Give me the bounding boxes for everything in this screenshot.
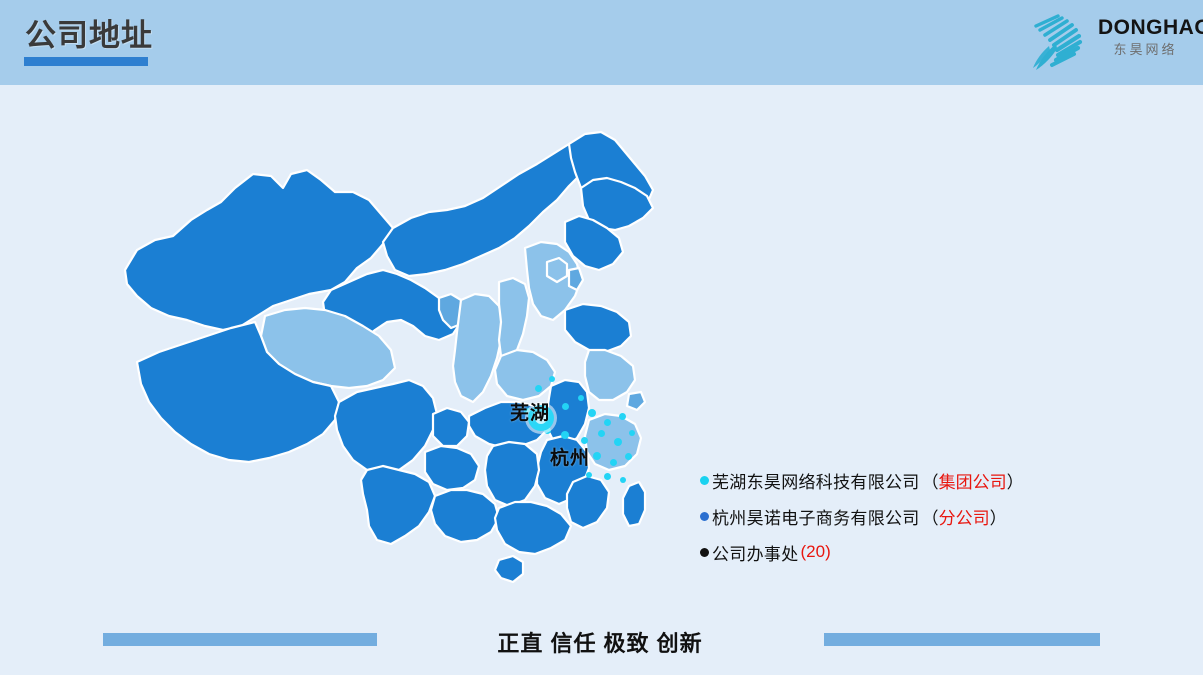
legend-tag-branch-company: （分公司）: [922, 504, 1007, 529]
office-dot[interactable]: [562, 403, 569, 410]
office-dot[interactable]: [598, 430, 605, 437]
office-dot[interactable]: [625, 453, 632, 460]
province-henan: [495, 350, 555, 400]
logo-wordmark: DONGHAO 东昊网络: [1098, 16, 1193, 59]
page-title: 公司地址: [25, 16, 153, 56]
company-logo: DONGHAO 东昊网络: [1026, 8, 1191, 76]
office-dot[interactable]: [604, 419, 611, 426]
legend-item-group-company: 芜湖东昊网络科技有限公司 （集团公司）: [700, 462, 1170, 498]
office-dot[interactable]: [610, 459, 617, 466]
legend-tag-red-group: 集团公司: [939, 473, 1007, 492]
legend-item-offices: 公司办事处 (20): [700, 534, 1170, 570]
province-shanxi: [499, 278, 529, 362]
office-dot[interactable]: [593, 452, 601, 460]
legend-label-offices: 公司办事处: [712, 540, 799, 565]
office-dot[interactable]: [604, 473, 611, 480]
province-sichuan: [335, 380, 437, 474]
province-shandong: [565, 304, 631, 352]
province-yunnan: [361, 466, 435, 544]
legend-office-count: (20): [801, 542, 831, 561]
office-dot[interactable]: [614, 438, 622, 446]
legend-tag-group-company: （集团公司）: [922, 468, 1024, 493]
province-jiangsu: [585, 350, 635, 400]
legend-tag-red-branch: 分公司: [939, 509, 990, 528]
china-map-svg: [95, 130, 695, 610]
province-hunan: [485, 442, 539, 506]
province-tianjin: [569, 268, 583, 290]
logo-subtitle: 东昊网络: [1098, 41, 1193, 59]
province-shaanxi: [453, 294, 503, 402]
paren-open: （: [922, 473, 939, 492]
office-dot[interactable]: [619, 413, 626, 420]
office-dot[interactable]: [588, 409, 596, 417]
office-dot[interactable]: [629, 430, 635, 436]
legend-list: 芜湖东昊网络科技有限公司 （集团公司） 杭州昊诺电子商务有限公司 （分公司） 公…: [700, 462, 1170, 570]
city-label-hangzhou: 杭州: [550, 443, 590, 470]
footer-bar-right: [824, 633, 1100, 646]
province-guangdong: [495, 502, 571, 554]
slide-header: 公司地址: [0, 0, 1203, 85]
logo-name: DONGHAO: [1098, 16, 1193, 40]
province-chongqing: [433, 408, 469, 446]
feather-fan-icon: [1026, 10, 1098, 74]
province-beijing: [547, 258, 567, 282]
legend-tag-offices: (20): [801, 542, 831, 562]
slide-canvas: 公司地址: [0, 0, 1203, 675]
office-dot[interactable]: [561, 431, 569, 439]
legend-label-branch-company: 杭州昊诺电子商务有限公司: [712, 504, 920, 529]
paren-close: ）: [990, 509, 1007, 528]
office-dot[interactable]: [620, 477, 626, 483]
province-hainan: [495, 556, 523, 582]
legend-label-group-company: 芜湖东昊网络科技有限公司: [712, 468, 920, 493]
office-dot[interactable]: [549, 376, 555, 382]
china-map: 芜湖 杭州: [95, 130, 695, 610]
footer-slogan: 正直 信任 极致 创新: [450, 626, 750, 658]
legend-bullet-blue-icon: [700, 512, 709, 521]
province-guangxi: [431, 490, 499, 542]
office-dot[interactable]: [578, 395, 584, 401]
legend-bullet-black-icon: [700, 548, 709, 557]
legend-bullet-cyan-icon: [700, 476, 709, 485]
province-taiwan: [623, 482, 645, 526]
title-underline-accent: [24, 57, 148, 66]
province-shanghai: [627, 392, 645, 410]
province-guizhou: [425, 446, 479, 490]
city-label-wuhu: 芜湖: [510, 398, 550, 425]
province-fujian: [567, 476, 609, 528]
footer-bar-left: [103, 633, 377, 646]
legend-item-branch-company: 杭州昊诺电子商务有限公司 （分公司）: [700, 498, 1170, 534]
paren-close: ）: [1007, 473, 1024, 492]
office-dot[interactable]: [586, 472, 592, 478]
office-dot[interactable]: [535, 385, 542, 392]
paren-open: （: [922, 509, 939, 528]
